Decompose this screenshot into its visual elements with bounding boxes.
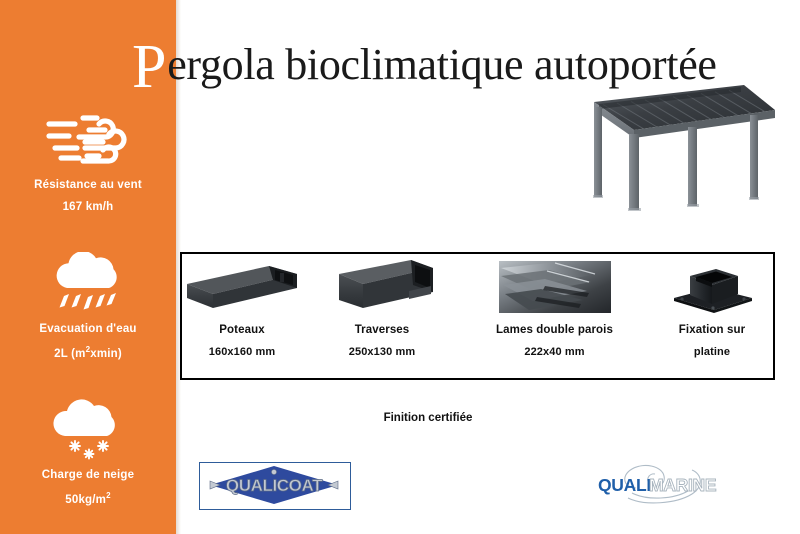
base-plate-photo (652, 254, 772, 316)
certification-title: Finition certifiée (384, 412, 473, 424)
spec-wind-resistance: Résistance au vent 167 km/h (0, 108, 176, 213)
product-dimension: platine (652, 346, 772, 358)
product-poteaux: Poteaux 160x160 mm (182, 254, 302, 378)
spec-label: Résistance au vent (0, 179, 176, 191)
spec-label: Charge de neige (0, 469, 176, 481)
product-fixation-platine: Fixation sur platine (652, 254, 772, 378)
spec-snow-load: Charge de neige 50kg/m2 (0, 398, 176, 506)
qualimarine-logo: QUALI MARINE (592, 458, 737, 508)
louvre-blades-photo (467, 254, 642, 316)
qualicoat-logo: QUALICOAT (199, 462, 351, 510)
spec-value: 167 km/h (0, 201, 176, 213)
title-dropcap: P (132, 33, 166, 101)
product-dimension: 160x160 mm (182, 346, 302, 358)
beam-profile-photo (322, 254, 442, 316)
product-name: Fixation sur (652, 324, 772, 336)
slide-canvas: Résistance au vent 167 km/h Evacuation d… (0, 0, 800, 534)
svg-text:QUALICOAT: QUALICOAT (226, 476, 323, 495)
components-box: Poteaux 160x160 mm (180, 252, 775, 380)
product-dimension: 250x130 mm (322, 346, 442, 358)
snow-cloud-icon (0, 398, 176, 460)
product-name: Traverses (322, 324, 442, 336)
qualimarine-text-bold: QUALI (598, 475, 651, 495)
pergola-photo (567, 82, 782, 214)
product-traverses: Traverses 250x130 mm (322, 254, 442, 378)
spec-value: 50kg/m2 (0, 491, 176, 506)
page-title: Pergola bioclimatique autoportée (132, 30, 717, 88)
spec-value: 2L (m2xmin) (0, 345, 176, 360)
rain-cloud-icon (0, 252, 176, 314)
product-lames-double-parois: Lames double parois 222x40 mm (467, 254, 642, 378)
qualimarine-text-light: MARINE (649, 475, 716, 495)
product-name: Poteaux (182, 324, 302, 336)
product-name: Lames double parois (467, 324, 642, 336)
wind-icon (0, 108, 176, 170)
spec-water-evacuation: Evacuation d'eau 2L (m2xmin) (0, 252, 176, 360)
post-profile-photo (182, 254, 302, 316)
spec-label: Evacuation d'eau (0, 323, 176, 335)
product-dimension: 222x40 mm (467, 346, 642, 358)
